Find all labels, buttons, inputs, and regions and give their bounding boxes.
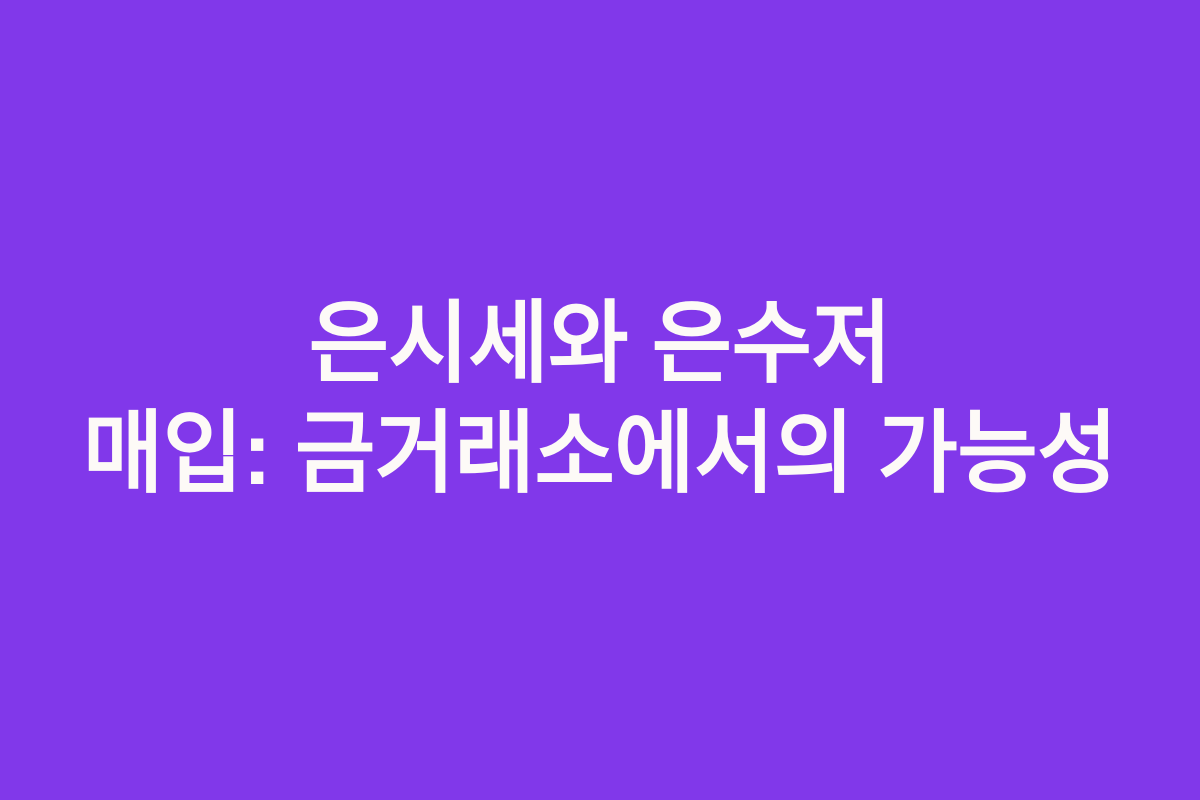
banner-canvas: 은시세와 은수저 매입: 금거래소에서의 가능성: [0, 0, 1200, 800]
title-line-1: 은시세와 은수저: [30, 289, 1171, 399]
title-line-2: 매입: 금거래소에서의 가능성: [30, 399, 1171, 509]
title-block: 은시세와 은수저 매입: 금거래소에서의 가능성: [0, 289, 1200, 509]
